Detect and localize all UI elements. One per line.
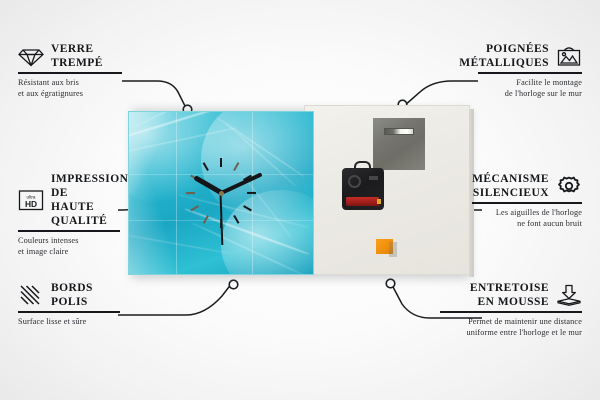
wire-verre-trempe: [122, 81, 186, 108]
callout-sub-line: Résistant aux bris: [18, 77, 122, 88]
callout-title-line: MÉCANISME: [472, 172, 549, 186]
callout-mecanisme-silencieux: MÉCANISME SILENCIEUX Les aiguilles de l'…: [472, 172, 582, 229]
callout-title-line: VERRE: [51, 42, 103, 56]
hanger-slot: [384, 128, 414, 135]
divider: [472, 202, 582, 204]
callout-title-line: MÉTALLIQUES: [459, 56, 549, 70]
ultra-hd-icon: ultra HD: [18, 189, 44, 211]
callout-impression-haute-qualite: ultra HD IMPRESSION DE HAUTE QUALITÉ Cou…: [18, 172, 120, 257]
callout-entretoise-en-mousse: ENTRETOISE EN MOUSSE Permet de maintenir…: [440, 281, 582, 338]
divider: [18, 72, 122, 74]
infographic-canvas: VERRE TREMPÉ Résistant aux bris et aux é…: [0, 0, 600, 400]
callout-sub-line: Surface lisse et sûre: [18, 316, 120, 327]
callout-title-line: POLIS: [51, 295, 93, 309]
mechanism-bar: [369, 176, 378, 180]
callout-sub-line: uniforme entre l'horloge et le mur: [440, 327, 582, 338]
callout-title-line: IMPRESSION DE: [51, 172, 128, 200]
callout-title-line: ENTRETOISE: [470, 281, 549, 295]
anchor-bords-polis: [229, 280, 238, 289]
callout-sub-line: Permet de maintenir une distance: [440, 316, 582, 327]
svg-text:HD: HD: [25, 199, 37, 209]
gear-icon: [556, 175, 582, 197]
mechanism-hook: [354, 161, 371, 170]
battery: [346, 197, 379, 206]
clock-back-panel: [304, 105, 470, 275]
diamond-icon: [18, 45, 44, 67]
callout-title-line: SILENCIEUX: [472, 186, 549, 200]
divider: [18, 230, 120, 232]
glass-seam: [176, 112, 177, 274]
picture-frame-hanger-icon: [556, 45, 582, 67]
feather-strand: [128, 234, 231, 254]
product-image: [128, 105, 472, 277]
polished-edges-icon: [18, 284, 44, 306]
wire-poignees: [404, 81, 478, 106]
callout-title-line: POIGNÉES: [459, 42, 549, 56]
divider: [440, 311, 582, 313]
callout-title-line: BORDS: [51, 281, 93, 295]
clock-hub: [219, 191, 224, 196]
callout-sub-line: Facilite le montage: [478, 77, 582, 88]
callout-sub-line: Couleurs intenses: [18, 235, 120, 246]
metallic-hanger-plate: [373, 118, 425, 170]
mechanism-dial: [348, 175, 361, 188]
callout-title-line: EN MOUSSE: [470, 295, 549, 309]
callout-title-line: TREMPÉ: [51, 56, 103, 70]
callout-verre-trempe: VERRE TREMPÉ Résistant aux bris et aux é…: [18, 42, 122, 99]
callout-title-line: HAUTE QUALITÉ: [51, 200, 128, 228]
quartz-mechanism: [342, 168, 384, 210]
divider: [18, 311, 120, 313]
callout-poignees-metalliques: POIGNÉES MÉTALLIQUES Facilite le montage…: [478, 42, 582, 99]
foam-spacer: [376, 239, 393, 254]
callout-sub-line: de l'horloge sur le mur: [478, 88, 582, 99]
callout-sub-line: et aux égratignures: [18, 88, 122, 99]
divider: [478, 72, 582, 74]
wire-bords-polis: [118, 283, 232, 315]
callout-sub-line: Les aiguilles de l'horloge: [472, 207, 582, 218]
anchor-entretoise: [386, 279, 395, 288]
callout-sub-line: ne font aucun bruit: [472, 218, 582, 229]
clock-face: [128, 111, 314, 275]
callout-sub-line: et image claire: [18, 246, 120, 257]
foam-spacer-arrow-icon: [556, 284, 582, 306]
callout-bords-polis: BORDS POLIS Surface lisse et sûre: [18, 281, 120, 327]
